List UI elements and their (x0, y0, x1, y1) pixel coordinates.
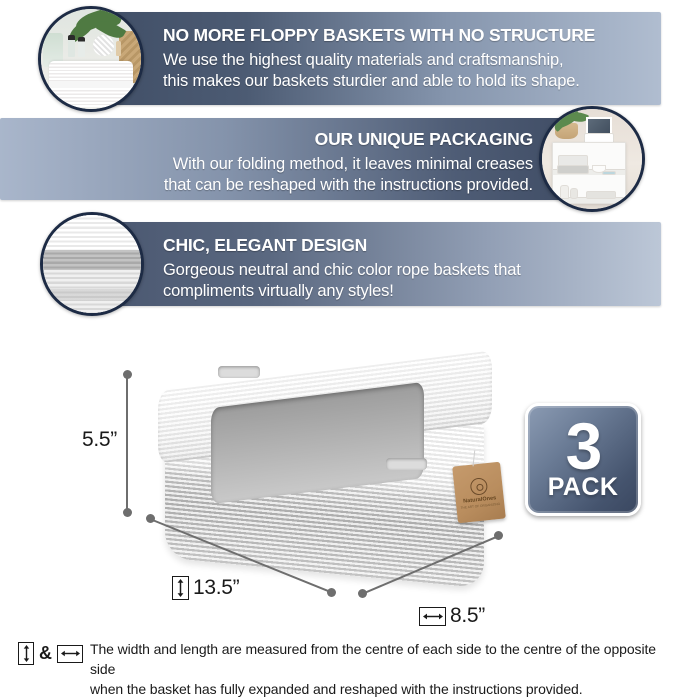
banner-1-body: We use the highest quality materials and… (163, 51, 595, 91)
footnote-line-2: when the basket has fully expanded and r… (90, 680, 668, 700)
banner-3-title: CHIC, ELEGANT DESIGN (163, 235, 521, 255)
vertical-arrow-boxed-icon (172, 576, 189, 600)
pack-count-label: PACK (548, 475, 619, 500)
length-dot-start (146, 514, 155, 523)
height-dim-line (126, 375, 128, 513)
banner-3-body: Gorgeous neutral and chic color rope bas… (163, 261, 521, 301)
footnote-ampersand: & (39, 643, 52, 664)
feature-banner-2: OUR UNIQUE PACKAGING With our folding me… (0, 118, 679, 200)
width-dot-start (358, 589, 367, 598)
footnote-icon-group: & (18, 640, 83, 665)
length-dim-label: 13.5” (172, 576, 239, 600)
brand-logo-icon (469, 477, 488, 496)
feature-banner-3: CHIC, ELEGANT DESIGN Gorgeous neutral an… (0, 222, 679, 306)
footnote-line-1: The width and length are measured from t… (90, 640, 668, 680)
width-dim-label: 8.5” (419, 604, 485, 628)
length-dot-end (327, 588, 336, 597)
basket-handle-right (386, 458, 428, 470)
pack-count-badge: 3 PACK (525, 403, 641, 516)
banner-1-body-line-2: this makes our baskets sturdier and able… (163, 72, 595, 91)
pack-count-number: 3 (566, 419, 601, 474)
length-dim-value: 13.5” (193, 576, 239, 600)
banner-2-title: OUR UNIQUE PACKAGING (164, 129, 533, 149)
basket-handle-left (218, 366, 260, 378)
banner-1-title: NO MORE FLOPPY BASKETS WITH NO STRUCTURE (163, 25, 595, 45)
hang-tag: NaturalOnes THE ART OF ORGANIZING (452, 462, 506, 524)
horizontal-arrow-boxed-icon (57, 645, 83, 663)
measurement-footnote: & The width and length are measured from… (18, 640, 668, 700)
banner-3-body-line-1: Gorgeous neutral and chic color rope bas… (163, 261, 521, 280)
banner-1-text: NO MORE FLOPPY BASKETS WITH NO STRUCTURE… (163, 25, 595, 92)
footnote-text: The width and length are measured from t… (90, 640, 668, 700)
banner-2-body-line-1: With our folding method, it leaves minim… (164, 155, 533, 174)
feature-banner-1: NO MORE FLOPPY BASKETS WITH NO STRUCTURE… (0, 12, 679, 105)
basket-with-plant-photo (38, 6, 144, 112)
banner-2-body-line-2: that can be reshaped with the instructio… (164, 176, 533, 195)
width-dim-value: 8.5” (450, 604, 485, 628)
height-dim-value: 5.5” (82, 428, 117, 452)
white-shelf-photo (539, 106, 645, 212)
width-dot-end (494, 531, 503, 540)
product-basket-photo: NaturalOnes THE ART OF ORGANIZING (150, 352, 530, 592)
vertical-arrow-boxed-icon (18, 642, 34, 665)
height-dot-bottom (123, 508, 132, 517)
banner-2-text: OUR UNIQUE PACKAGING With our folding me… (164, 129, 533, 196)
horizontal-arrow-boxed-icon (419, 607, 446, 626)
banner-2-body: With our folding method, it leaves minim… (164, 155, 533, 195)
banner-3-body-line-2: compliments virtually any styles! (163, 282, 521, 301)
banner-3-text: CHIC, ELEGANT DESIGN Gorgeous neutral an… (163, 235, 521, 302)
banner-1-body-line-1: We use the highest quality materials and… (163, 51, 595, 70)
height-dim-label: 5.5” (82, 428, 117, 452)
rope-texture-photo (40, 212, 144, 316)
